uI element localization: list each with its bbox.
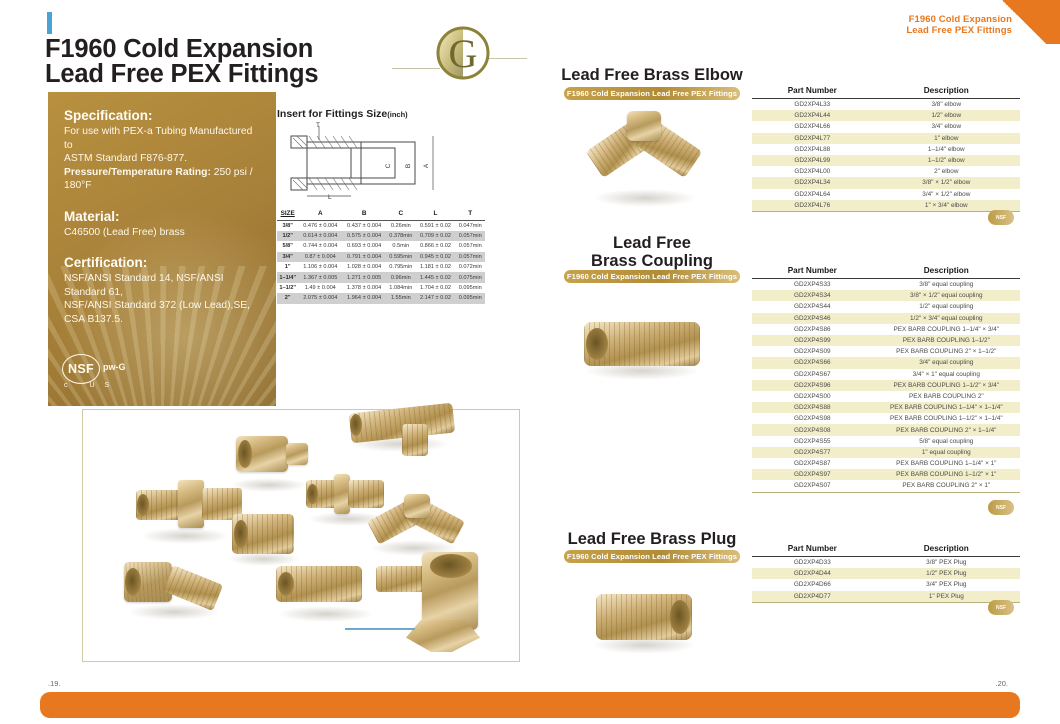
table-body: GD2XP4D333/8" PEX PlugGD2XP4D441/2" PEX … bbox=[752, 557, 1020, 603]
cell-part-number: GD2XP4S86 bbox=[752, 324, 873, 335]
fitting-male-adapter bbox=[136, 476, 242, 532]
dimension-table-row: 3/4"0.87 ± 0.0040.791 ± 0.0040.595min0.9… bbox=[277, 252, 485, 262]
table-row[interactable]: GD2XP4L333/8" elbow bbox=[752, 99, 1020, 111]
nsf-badge-plug: NSF bbox=[988, 600, 1014, 615]
cell-part-number: GD2XP4L00 bbox=[752, 166, 873, 177]
cell-part-number: GD2XP4S00 bbox=[752, 391, 873, 402]
brand-monogram-icon: G bbox=[432, 22, 494, 84]
cell-description: 3/8" elbow bbox=[873, 99, 1020, 111]
cell-part-number: GD2XP4S98 bbox=[752, 413, 873, 424]
catalog-spread: F1960 Cold Expansion Lead Free PEX Fitti… bbox=[0, 0, 1060, 724]
nsf-badge-coupling: NSF bbox=[988, 500, 1014, 515]
cell-part-number: GD2XP4S07 bbox=[752, 480, 873, 492]
cell-description: PEX BARB COUPLING 2" × 1–1/2" bbox=[873, 346, 1020, 357]
accent-tick bbox=[47, 12, 52, 34]
table-body: GD2XP4L333/8" elbowGD2XP4L441/2" elbowGD… bbox=[752, 99, 1020, 212]
table-row[interactable]: GD2XP4L343/8" × 1/2" elbow bbox=[752, 177, 1020, 188]
fitting-barb-coupling-long bbox=[276, 560, 362, 608]
table-row[interactable]: GD2XP4S771" equal coupling bbox=[752, 447, 1020, 458]
dimension-table-row: 1–1/2"1.49 ± 0.0041.378 ± 0.0041.084min1… bbox=[277, 283, 485, 293]
section-ribbon-plug: F1960 Cold Expansion Lead Free PEX Fitti… bbox=[564, 550, 740, 563]
dimension-cell: 0.795min bbox=[386, 262, 416, 272]
section-image-elbow bbox=[585, 105, 705, 215]
fitting-coupling-top bbox=[236, 432, 308, 476]
cell-part-number: GD2XP4L33 bbox=[752, 99, 873, 111]
cell-description: 3/8" × 1/2" elbow bbox=[873, 177, 1020, 188]
dimension-cell: 1.704 ± 0.02 bbox=[416, 283, 456, 293]
dimension-cell: 0.709 ± 0.02 bbox=[416, 231, 456, 241]
dimension-cell: 0.057min bbox=[455, 252, 485, 262]
cell-part-number: GD2XP4S67 bbox=[752, 369, 873, 380]
cert-text-1: NSF/ANSI Standard 14, NSF/ANSI Standard … bbox=[64, 273, 224, 298]
cell-description: 1/2" × 3/4" equal coupling bbox=[873, 313, 1020, 324]
cell-part-number: GD2XP4S87 bbox=[752, 458, 873, 469]
section-title-elbow: Lead Free Brass Elbow bbox=[552, 66, 752, 84]
fitting-elbow bbox=[370, 486, 460, 548]
dimension-cell: 1.378 ± 0.004 bbox=[342, 283, 386, 293]
svg-text:G: G bbox=[449, 31, 478, 76]
table-row[interactable]: GD2XP4S87PEX BARB COUPLING 1–1/4" × 1" bbox=[752, 458, 1020, 469]
nsf-ring-icon: NSF bbox=[62, 354, 100, 384]
svg-text:T: T bbox=[316, 122, 320, 129]
table-row[interactable]: GD2XP4L881–1/4" elbow bbox=[752, 144, 1020, 155]
dimension-cell: 1.964 ± 0.004 bbox=[342, 293, 386, 303]
page-title-line2: Lead Free PEX Fittings bbox=[45, 62, 318, 87]
cell-description: 2" elbow bbox=[873, 166, 1020, 177]
photo-accent-underline bbox=[345, 628, 415, 630]
cell-description: PEX BARB COUPLING 2" × 1" bbox=[873, 480, 1020, 492]
dimension-cell: 0.87 ± 0.004 bbox=[298, 252, 342, 262]
cell-description: 5/8" equal coupling bbox=[873, 436, 1020, 447]
table-row[interactable]: GD2XP4S00PEX BARB COUPLING 2" bbox=[752, 391, 1020, 402]
section-ribbon-elbow: F1960 Cold Expansion Lead Free PEX Fitti… bbox=[564, 87, 740, 100]
section-title-plug: Lead Free Brass Plug bbox=[552, 530, 752, 548]
dimension-cell: 1.49 ± 0.004 bbox=[298, 283, 342, 293]
cell-description: 3/8" equal coupling bbox=[873, 279, 1020, 291]
dimension-cell: 0.057min bbox=[455, 241, 485, 251]
cell-description: 3/8" PEX Plug bbox=[873, 557, 1020, 569]
parts-col-header-part-number: Part Number bbox=[752, 84, 873, 99]
dimension-cell: 0.595min bbox=[386, 252, 416, 262]
cell-part-number: GD2XP4S08 bbox=[752, 424, 873, 435]
dimension-cell: 0.095min bbox=[455, 293, 485, 303]
section-ribbon-coupling: F1960 Cold Expansion Lead Free PEX Fitti… bbox=[564, 270, 740, 283]
page-title-line1: F1960 Cold Expansion bbox=[45, 35, 313, 63]
page-number-left: .19. bbox=[48, 679, 61, 688]
dimension-cell: 0.047min bbox=[455, 220, 485, 231]
table-row[interactable]: GD2XP4S663/4" equal coupling bbox=[752, 357, 1020, 368]
dimension-cell: 0.591 ± 0.02 bbox=[416, 220, 456, 231]
material-text: C46500 (Lead Free) brass bbox=[64, 226, 260, 240]
dimension-cell: 0.26min bbox=[386, 220, 416, 231]
svg-text:L: L bbox=[328, 194, 332, 201]
dimension-cell: 1–1/2" bbox=[277, 283, 298, 293]
dimension-cell: 1" bbox=[277, 262, 298, 272]
page-gutter bbox=[529, 0, 531, 724]
dimension-col-header-0: SIZE bbox=[277, 208, 298, 220]
cell-part-number: GD2XP4L64 bbox=[752, 189, 873, 200]
table-row[interactable]: GD2XP4D771" PEX Plug bbox=[752, 591, 1020, 603]
cell-part-number: GD2XP4L76 bbox=[752, 200, 873, 212]
section-title-coupling-line1: Lead Free bbox=[613, 234, 691, 252]
footer-bar-right bbox=[528, 692, 1020, 718]
dimension-cell: 1.367 ± 0.005 bbox=[298, 272, 342, 282]
cell-description: 1" equal coupling bbox=[873, 447, 1020, 458]
cell-part-number: GD2XP4S77 bbox=[752, 447, 873, 458]
cell-part-number: GD2XP4S66 bbox=[752, 357, 873, 368]
dimension-table-row: 1"1.106 ± 0.0041.028 ± 0.0040.795min1.18… bbox=[277, 262, 485, 272]
cell-part-number: GD2XP4L44 bbox=[752, 110, 873, 121]
section-title-coupling-line2: Brass Coupling bbox=[591, 252, 713, 270]
material-heading: Material: bbox=[64, 209, 260, 224]
insert-size-title-text: Insert for Fittings Size bbox=[277, 108, 387, 120]
cell-part-number: GD2XP4L34 bbox=[752, 177, 873, 188]
svg-text:C: C bbox=[385, 163, 392, 168]
table-row[interactable]: GD2XP4S555/8" equal coupling bbox=[752, 436, 1020, 447]
dimension-table-row: 5/8"0.744 ± 0.0040.693 ± 0.0040.5min0.86… bbox=[277, 241, 485, 251]
dimension-cell: 0.866 ± 0.02 bbox=[416, 241, 456, 251]
cell-description: 3/4" elbow bbox=[873, 121, 1020, 132]
table-row[interactable]: GD2XP4S09PEX BARB COUPLING 2" × 1–1/2" bbox=[752, 346, 1020, 357]
dimension-col-header-3: C bbox=[386, 208, 416, 220]
table-header-row: Part NumberDescription bbox=[752, 264, 1020, 279]
dimension-table-row: 3/8"0.476 ± 0.0040.437 ± 0.0040.26min0.5… bbox=[277, 220, 485, 231]
table-row[interactable]: GD2XP4L761" × 3/4" elbow bbox=[752, 200, 1020, 212]
cell-part-number: GD2XP4S09 bbox=[752, 346, 873, 357]
spec-text-1: For use with PEX-a Tubing Manufactured t… bbox=[64, 126, 252, 151]
section-image-coupling bbox=[578, 300, 708, 392]
rating-label: Pressure/Temperature Rating: bbox=[64, 167, 211, 178]
fitting-male-elbow bbox=[124, 552, 220, 612]
dimension-col-header-1: A bbox=[298, 208, 342, 220]
dimension-cell: 3/8" bbox=[277, 220, 298, 231]
table-row[interactable]: GD2XP4S98PEX BARB COUPLING 1–1/2" × 1–1/… bbox=[752, 413, 1020, 424]
dimension-cell: 0.693 ± 0.004 bbox=[342, 241, 386, 251]
dimension-cell: 0.075min bbox=[455, 272, 485, 282]
cell-description: PEX BARB COUPLING 1–1/2" bbox=[873, 335, 1020, 346]
dimension-cell: 0.575 ± 0.004 bbox=[342, 231, 386, 241]
parts-col-header-part-number: Part Number bbox=[752, 542, 873, 557]
dimension-cell: 0.057min bbox=[455, 231, 485, 241]
parts-table-plug: Part NumberDescription GD2XP4D333/8" PEX… bbox=[752, 542, 1020, 603]
spec-text-2: ASTM Standard F876-877. bbox=[64, 153, 187, 164]
table-row[interactable]: GD2XP4L643/4" × 1/2" elbow bbox=[752, 189, 1020, 200]
table-row[interactable]: GD2XP4S86PEX BARB COUPLING 1–1/4" × 3/4" bbox=[752, 324, 1020, 335]
cell-description: 1/2" elbow bbox=[873, 110, 1020, 121]
insert-technical-drawing: T L C B A bbox=[283, 122, 483, 204]
page-number-right: .20. bbox=[995, 679, 1008, 688]
cell-description: 3/4" PEX Plug bbox=[873, 579, 1020, 590]
cert-text-2: NSF/ANSI Standard 372 (Low Lead),SE, bbox=[64, 300, 250, 311]
table-row[interactable]: GD2XP4S07PEX BARB COUPLING 2" × 1" bbox=[752, 480, 1020, 492]
table-row[interactable]: GD2XP4S08PEX BARB COUPLING 2" × 1–1/4" bbox=[752, 424, 1020, 435]
table-row[interactable]: GD2XP4L002" elbow bbox=[752, 166, 1020, 177]
cell-part-number: GD2XP4D33 bbox=[752, 557, 873, 569]
svg-text:A: A bbox=[423, 163, 430, 168]
svg-text:B: B bbox=[405, 164, 412, 168]
table-row[interactable]: GD2XP4S97PEX BARB COUPLING 1–1/2" × 1" bbox=[752, 469, 1020, 480]
dimension-table-body: 3/8"0.476 ± 0.0040.437 ± 0.0040.26min0.5… bbox=[277, 220, 485, 304]
dimension-table-row: 1–1/4"1.367 ± 0.0051.271 ± 0.0050.96min1… bbox=[277, 272, 485, 282]
cell-description: PEX BARB COUPLING 1–1/2" × 1" bbox=[873, 469, 1020, 480]
dimension-cell: 1.271 ± 0.005 bbox=[342, 272, 386, 282]
dimension-cell: 0.614 ± 0.004 bbox=[298, 231, 342, 241]
table-row[interactable]: GD2XP4S343/8" × 1/2" equal coupling bbox=[752, 290, 1020, 301]
table-row[interactable]: GD2XP4D441/2" PEX Plug bbox=[752, 568, 1020, 579]
dimension-cell: 0.378min bbox=[386, 231, 416, 241]
dimension-cell: 0.476 ± 0.004 bbox=[298, 220, 342, 231]
table-header-row: Part NumberDescription bbox=[752, 84, 1020, 99]
cell-part-number: GD2XP4S55 bbox=[752, 436, 873, 447]
dimension-cell: 2" bbox=[277, 293, 298, 303]
cell-description: 1–1/2" elbow bbox=[873, 155, 1020, 166]
dimension-table: SIZEABCLT 3/8"0.476 ± 0.0040.437 ± 0.004… bbox=[277, 208, 485, 304]
cell-part-number: GD2XP4S88 bbox=[752, 402, 873, 413]
dimension-cell: 0.96min bbox=[386, 272, 416, 282]
dimension-cell: 5/8" bbox=[277, 241, 298, 251]
table-row[interactable]: GD2XP4S99PEX BARB COUPLING 1–1/2" bbox=[752, 335, 1020, 346]
cell-description: 1/2" PEX Plug bbox=[873, 568, 1020, 579]
dimension-col-header-5: T bbox=[455, 208, 485, 220]
cell-description: PEX BARB COUPLING 1–1/2" × 1–1/4" bbox=[873, 413, 1020, 424]
dimension-cell: 1.084min bbox=[386, 283, 416, 293]
table-row[interactable]: GD2XP4S333/8" equal coupling bbox=[752, 279, 1020, 291]
dimension-table-row: 1/2"0.614 ± 0.0040.575 ± 0.0040.378min0.… bbox=[277, 231, 485, 241]
fitting-drop-ear-elbow bbox=[376, 550, 480, 660]
table-row[interactable]: GD2XP4S441/2" equal coupling bbox=[752, 301, 1020, 312]
dimension-cell: 0.5min bbox=[386, 241, 416, 251]
dimension-table-header-row: SIZEABCLT bbox=[277, 208, 485, 220]
dimension-cell: 1.028 ± 0.004 bbox=[342, 262, 386, 272]
cell-description: PEX BARB COUPLING 1–1/4" × 3/4" bbox=[873, 324, 1020, 335]
fitting-coupling-center-low bbox=[230, 514, 294, 558]
cell-part-number: GD2XP4S44 bbox=[752, 301, 873, 312]
certification-heading: Certification: bbox=[64, 255, 260, 270]
section-image-plug bbox=[586, 570, 706, 662]
specification-panel: Specification: For use with PEX-a Tubing… bbox=[48, 92, 276, 406]
dimension-cell: 1–1/4" bbox=[277, 272, 298, 282]
product-photo-montage bbox=[40, 400, 520, 680]
section-title-coupling: Lead Free Brass Coupling bbox=[552, 234, 752, 270]
insert-size-unit: (inch) bbox=[387, 110, 407, 119]
cell-description: 1" elbow bbox=[873, 133, 1020, 144]
parts-col-header-description: Description bbox=[873, 264, 1020, 279]
cell-description: 3/4" equal coupling bbox=[873, 357, 1020, 368]
dimension-cell: 3/4" bbox=[277, 252, 298, 262]
corner-label: F1960 Cold Expansion Lead Free PEX Fitti… bbox=[906, 14, 1012, 36]
cell-description: PEX BARB COUPLING 1–1/4" × 1" bbox=[873, 458, 1020, 469]
cell-part-number: GD2XP4S46 bbox=[752, 313, 873, 324]
table-header-row: Part NumberDescription bbox=[752, 542, 1020, 557]
dimension-cell: 2.147 ± 0.02 bbox=[416, 293, 456, 303]
cell-description: 1–1/4" elbow bbox=[873, 144, 1020, 155]
cell-description: 3/4" × 1" equal coupling bbox=[873, 369, 1020, 380]
cell-description: PEX BARB COUPLING 1–1/4" × 1–1/4" bbox=[873, 402, 1020, 413]
parts-table-elbow: Part NumberDescription GD2XP4L333/8" elb… bbox=[752, 84, 1020, 212]
table-row[interactable]: GD2XP4D333/8" PEX Plug bbox=[752, 557, 1020, 569]
cell-part-number: GD2XP4S99 bbox=[752, 335, 873, 346]
cert-text-3: CSA B137.5. bbox=[64, 314, 123, 325]
dimension-cell: 0.945 ± 0.02 bbox=[416, 252, 456, 262]
cell-part-number: GD2XP4L99 bbox=[752, 155, 873, 166]
dimension-cell: 0.744 ± 0.004 bbox=[298, 241, 342, 251]
parts-table-coupling: Part NumberDescription GD2XP4S333/8" equ… bbox=[752, 264, 1020, 493]
parts-col-header-description: Description bbox=[873, 542, 1020, 557]
cell-part-number: GD2XP4S97 bbox=[752, 469, 873, 480]
table-row[interactable]: GD2XP4S673/4" × 1" equal coupling bbox=[752, 369, 1020, 380]
dimension-col-header-2: B bbox=[342, 208, 386, 220]
page-title: F1960 Cold Expansion Lead Free PEX Fitti… bbox=[45, 37, 318, 87]
table-body: GD2XP4S333/8" equal couplingGD2XP4S343/8… bbox=[752, 279, 1020, 493]
cell-part-number: GD2XP4L66 bbox=[752, 121, 873, 132]
dimension-cell: 1.181 ± 0.02 bbox=[416, 262, 456, 272]
cell-part-number: GD2XP4D77 bbox=[752, 591, 873, 603]
cell-description: 3/4" × 1/2" elbow bbox=[873, 189, 1020, 200]
spec-heading: Specification: bbox=[64, 108, 260, 123]
footer-bar-left bbox=[40, 692, 532, 718]
nsf-certification-mark: NSF pw-G c US bbox=[62, 352, 154, 392]
table-row[interactable]: GD2XP4L771" elbow bbox=[752, 133, 1020, 144]
table-row[interactable]: GD2XP4L663/4" elbow bbox=[752, 121, 1020, 132]
cell-part-number: GD2XP4S34 bbox=[752, 290, 873, 301]
dimension-cell: 0.791 ± 0.004 bbox=[342, 252, 386, 262]
insert-size-title: Insert for Fittings Size(inch) bbox=[277, 108, 408, 120]
dimension-cell: 0.437 ± 0.004 bbox=[342, 220, 386, 231]
cell-description: PEX BARB COUPLING 1–1/2" × 3/4" bbox=[873, 380, 1020, 391]
dimension-cell: 1.445 ± 0.02 bbox=[416, 272, 456, 282]
dimension-cell: 1.55min bbox=[386, 293, 416, 303]
dimension-cell: 1/2" bbox=[277, 231, 298, 241]
dimension-col-header-4: L bbox=[416, 208, 456, 220]
nsf-suffix: pw-G bbox=[103, 362, 126, 372]
table-row[interactable]: GD2XP4S461/2" × 3/4" equal coupling bbox=[752, 313, 1020, 324]
cell-part-number: GD2XP4L88 bbox=[752, 144, 873, 155]
fitting-tee bbox=[350, 400, 454, 456]
dimension-cell: 2.075 ± 0.004 bbox=[298, 293, 342, 303]
parts-col-header-part-number: Part Number bbox=[752, 264, 873, 279]
cell-description: PEX BARB COUPLING 2" bbox=[873, 391, 1020, 402]
table-row[interactable]: GD2XP4S96PEX BARB COUPLING 1–1/2" × 3/4" bbox=[752, 380, 1020, 391]
dimension-cell: 0.072min bbox=[455, 262, 485, 272]
table-row[interactable]: GD2XP4S88PEX BARB COUPLING 1–1/4" × 1–1/… bbox=[752, 402, 1020, 413]
dimension-cell: 0.095min bbox=[455, 283, 485, 293]
cell-description: PEX BARB COUPLING 2" × 1–1/4" bbox=[873, 424, 1020, 435]
nsf-badge-elbow: NSF bbox=[988, 210, 1014, 225]
table-row[interactable]: GD2XP4D663/4" PEX Plug bbox=[752, 579, 1020, 590]
cell-description: 1/2" equal coupling bbox=[873, 301, 1020, 312]
dimension-cell: 1.106 ± 0.004 bbox=[298, 262, 342, 272]
parts-col-header-description: Description bbox=[873, 84, 1020, 99]
cell-part-number: GD2XP4L77 bbox=[752, 133, 873, 144]
cell-part-number: GD2XP4S96 bbox=[752, 380, 873, 391]
cell-part-number: GD2XP4D44 bbox=[752, 568, 873, 579]
cell-part-number: GD2XP4D66 bbox=[752, 579, 873, 590]
dimension-table-row: 2"2.075 ± 0.0041.964 ± 0.0041.55min2.147… bbox=[277, 293, 485, 303]
corner-label-line1: F1960 Cold Expansion bbox=[909, 14, 1012, 25]
corner-label-line2: Lead Free PEX Fittings bbox=[906, 25, 1012, 36]
cell-part-number: GD2XP4S33 bbox=[752, 279, 873, 291]
table-row[interactable]: GD2XP4L441/2" elbow bbox=[752, 110, 1020, 121]
nsf-cus-label: c US bbox=[64, 382, 119, 389]
cell-description: 3/8" × 1/2" equal coupling bbox=[873, 290, 1020, 301]
table-row[interactable]: GD2XP4L991–1/2" elbow bbox=[752, 155, 1020, 166]
